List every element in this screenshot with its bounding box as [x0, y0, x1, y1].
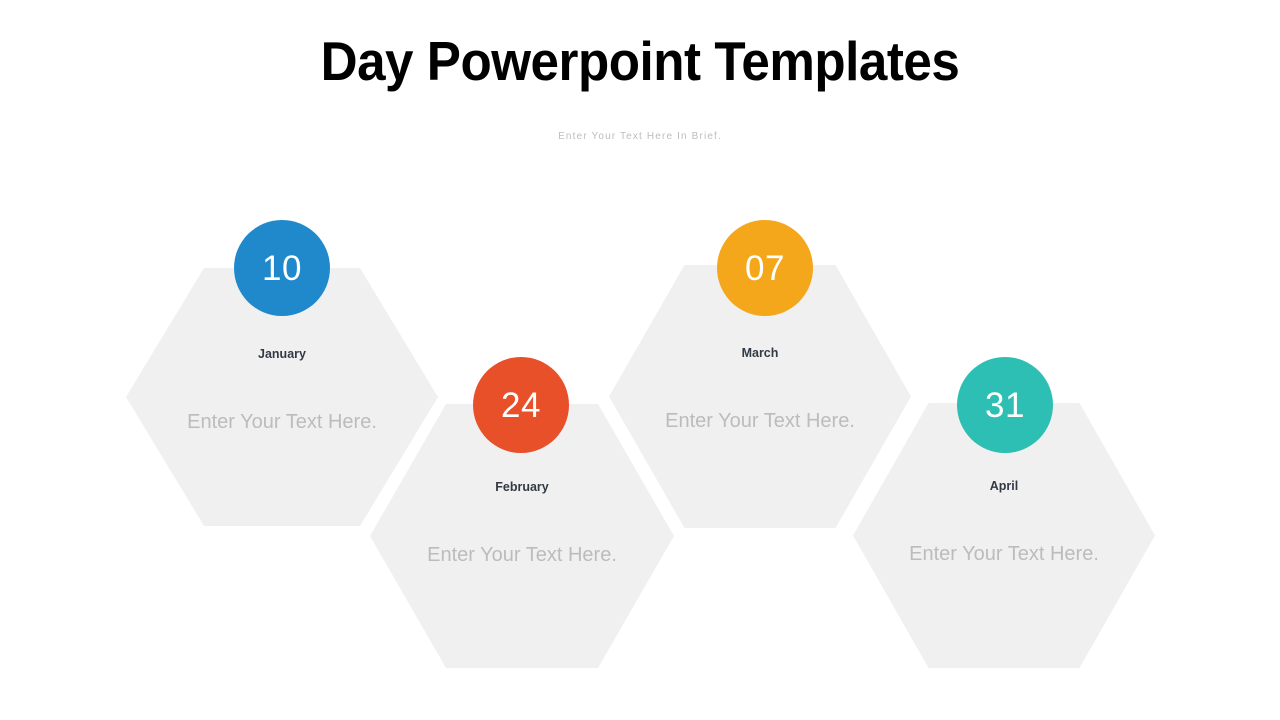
slide-canvas: Day Powerpoint Templates Enter Your Text…	[0, 0, 1280, 720]
day-badge-march[interactable]: 07	[717, 220, 813, 316]
page-subtitle: Enter Your Text Here In Brief.	[0, 130, 1280, 144]
hex-month-label: February	[370, 479, 674, 495]
hex-month-label: March	[609, 345, 911, 361]
day-badge-february[interactable]: 24	[473, 357, 569, 453]
day-badge-january[interactable]: 10	[234, 220, 330, 316]
hex-body-text: Enter Your Text Here.	[853, 541, 1155, 567]
day-badge-april[interactable]: 31	[957, 357, 1053, 453]
hex-month-label: January	[126, 346, 438, 362]
hex-body-text: Enter Your Text Here.	[370, 542, 674, 568]
page-title: Day Powerpoint Templates	[45, 28, 1235, 94]
hex-month-label: April	[853, 478, 1155, 494]
